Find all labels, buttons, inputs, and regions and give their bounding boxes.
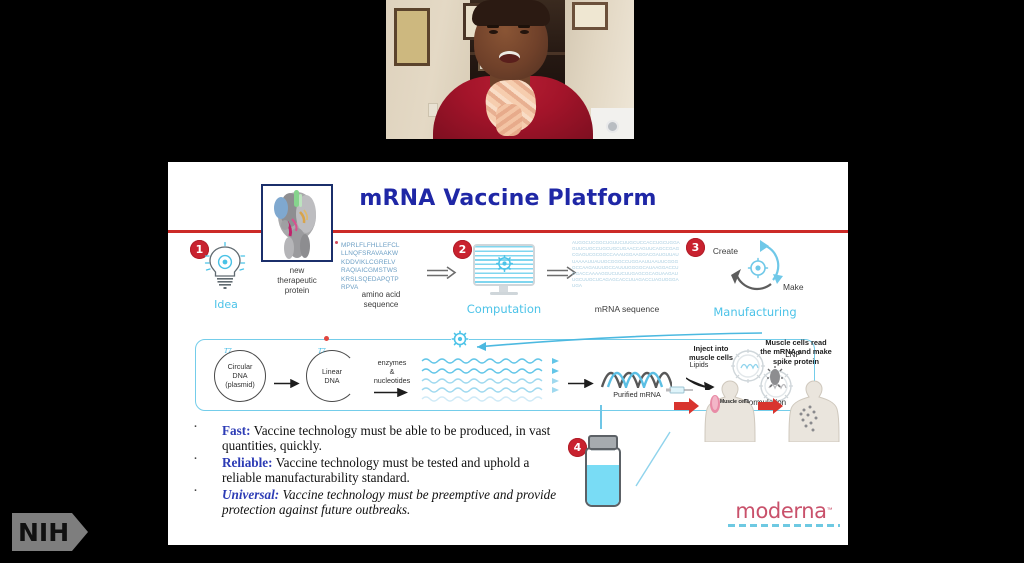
manufacturing-label-create: Create [698,246,738,256]
bullet-keyword: Universal: [222,487,279,502]
injection-illustration: Inject into muscle cells Muscle cells re… [668,344,840,472]
bullet-text: Vaccine technology must be able to be pr… [222,423,550,453]
moderna-wordmark: moderna [735,499,826,523]
monitor-base [490,292,518,295]
list-item: Reliable: Vaccine technology must be tes… [186,455,561,486]
door-knob [606,120,619,133]
svg-text:NIH: NIH [18,518,69,547]
presenter-eye [489,30,498,34]
inject-label: Inject into muscle cells [674,344,748,363]
nih-logo: NIH [8,509,100,555]
list-item: Universal: Vaccine technology must be pr… [186,487,561,518]
logo-underline [728,524,840,527]
mrna-sequence-caption: mRNA sequence [572,304,682,314]
step-caption-manufacturing: Manufacturing [690,305,820,319]
mrna-strands-icon [420,356,560,402]
t7-promoter-label: T7 [224,347,231,355]
list-item: Fast: Vaccine technology must be able to… [186,423,561,454]
presenter-eye [520,30,529,34]
sequence-marker-dot [335,241,338,244]
step-caption-computation: Computation [454,302,554,316]
spike-protein-label: Muscle cells read the mRNA and make spik… [750,338,842,366]
presentation-slide[interactable]: mRNA Vaccine Platform 1 [168,162,848,545]
vial-cap [588,435,618,450]
monitor-gear-icon [473,244,535,296]
amino-acid-caption: amino acid sequence [340,290,422,310]
pipeline-marker-dot [324,336,329,341]
vaccine-vial-icon [579,427,627,509]
vial-liquid [587,465,619,505]
amino-acid-sequence-text: MPRLFLFHLLEFCL LLNQFSRAVAAKW KDDVIKLCGRE… [341,242,419,292]
flow-arrow-icon [274,375,300,384]
gear-icon [496,255,513,272]
pipeline-node-label: enzymes & nucleotides [368,358,416,385]
bullet-keyword: Fast: [222,423,251,438]
manufacturing-cycle-icon [713,234,803,304]
lightbulb-icon [204,242,246,290]
wall-picture-frame [572,2,608,30]
presenter-eyebrow [487,25,499,28]
mrna-sequence-text: AUGGCUCGGCUGUUCUUGCUCCACCUGCUGGAGUUCUGCC… [572,240,680,290]
muscle-cells-tag: Muscle cells [720,399,749,405]
protein-structure-image [261,184,333,262]
protein-caption: new therapeutic protein [256,266,338,296]
bullet-keyword: Reliable: [222,455,273,470]
presenter-mouth [499,51,520,63]
t7-promoter-label: T7 [318,347,325,355]
bullet-list: Fast: Vaccine technology must be able to… [186,423,561,518]
screen-canvas: mRNA Vaccine Platform 1 [0,0,1024,563]
spike-protein-icon [766,366,784,388]
pipeline-node-label: Circular DNA (plasmid) [214,362,266,389]
flow-arrow-icon [568,375,594,384]
step-caption-idea: Idea [198,298,254,311]
vial-body [585,447,621,507]
flow-arrow-down [600,405,602,429]
pipeline-node-label: Linear DNA [306,367,358,385]
presenter-eyebrow [518,25,530,28]
wall-picture-frame [394,8,430,66]
presenter-scarf-knot [496,104,522,136]
trademark-symbol: ™ [827,508,833,514]
presenter-hair [472,0,550,26]
red-arrow-icon [674,398,700,412]
presenter-video-tile[interactable] [386,0,634,139]
purified-mrna-icon [600,360,672,388]
manufacturing-label-make: Make [783,282,823,292]
human-figure [788,380,840,442]
moderna-logo: moderna™ [728,499,840,527]
step-badge-2: 2 [453,240,472,259]
flow-arrow-icon [374,384,408,393]
red-arrow-icon [758,398,784,412]
flow-arrow-icon [426,266,456,278]
